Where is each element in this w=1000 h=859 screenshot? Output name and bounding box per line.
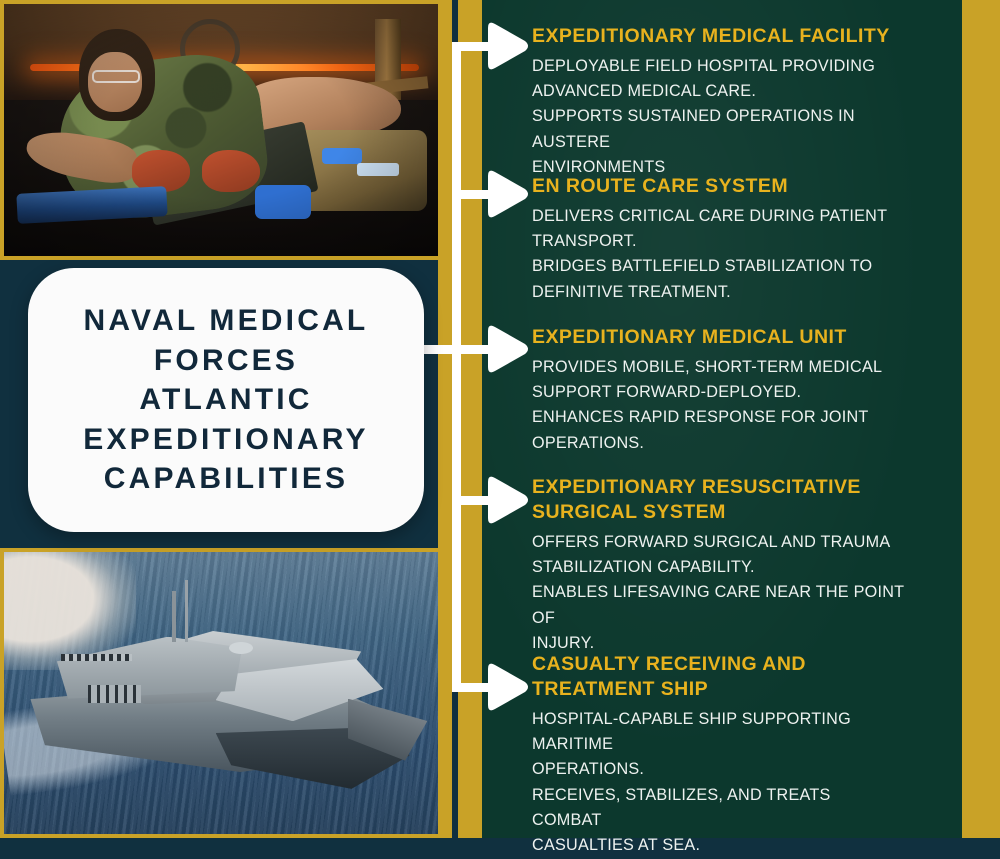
photo-vignette [4, 4, 445, 256]
connector-spine [452, 42, 461, 692]
capability-item-1: EXPEDITIONARY MEDICAL FACILITY DEPLOYABL… [532, 24, 936, 180]
top-photo-frame [0, 0, 449, 260]
connector-branch-3 [424, 345, 490, 354]
page-title: NAVAL MEDICAL FORCES ATLANTIC EXPEDITION… [61, 301, 391, 499]
photo-ship-mast [172, 591, 176, 642]
sailor-medical-training-photo [4, 4, 445, 256]
arrow-icon-5 [482, 659, 530, 715]
left-column: NAVAL MEDICAL FORCES ATLANTIC EXPEDITION… [0, 0, 466, 838]
capability-item-2: EN ROUTE CARE SYSTEM DELIVERS CRITICAL C… [532, 174, 936, 305]
capability-body: OFFERS FORWARD SURGICAL AND TRAUMA STABI… [532, 530, 918, 656]
capability-body: HOSPITAL-CAPABLE SHIP SUPPORTING MARITIM… [532, 707, 882, 859]
expeditionary-fast-transport-ship-photo [4, 552, 445, 834]
arrow-icon-1 [482, 18, 530, 74]
arrow-icon-4 [482, 472, 530, 528]
arrow-icon-2 [482, 166, 530, 222]
capability-body: PROVIDES MOBILE, SHORT-TERM MEDICAL SUPP… [532, 355, 936, 456]
capability-body: DEPLOYABLE FIELD HOSPITAL PROVIDING ADVA… [532, 54, 936, 180]
gold-divider-inner [438, 0, 452, 838]
capability-item-5: CASUALTY RECEIVING AND TREATMENT SHIP HO… [532, 652, 882, 859]
photo-ship-side-windows [88, 685, 141, 703]
capabilities-list: EXPEDITIONARY MEDICAL FACILITY DEPLOYABL… [532, 0, 942, 838]
photo-ship-antenna [185, 580, 188, 642]
capability-item-4: EXPEDITIONARY RESUSCITATIVE SURGICAL SYS… [532, 475, 918, 656]
capability-heading: EXPEDITIONARY RESUSCITATIVE SURGICAL SYS… [532, 475, 918, 525]
arrow-icon-3 [482, 321, 530, 377]
photo-ship-bridge-windows [61, 654, 132, 661]
capability-heading: EN ROUTE CARE SYSTEM [532, 174, 936, 199]
gold-edge-right [962, 0, 1000, 838]
title-card: NAVAL MEDICAL FORCES ATLANTIC EXPEDITION… [28, 268, 424, 532]
bottom-photo-frame [0, 548, 449, 838]
capability-heading: EXPEDITIONARY MEDICAL FACILITY [532, 24, 936, 49]
capability-heading: CASUALTY RECEIVING AND TREATMENT SHIP [532, 652, 882, 702]
capability-body: DELIVERS CRITICAL CARE DURING PATIENT TR… [532, 204, 936, 305]
capability-item-3: EXPEDITIONARY MEDICAL UNIT PROVIDES MOBI… [532, 325, 936, 456]
capability-heading: EXPEDITIONARY MEDICAL UNIT [532, 325, 936, 350]
infographic-poster: NAVAL MEDICAL FORCES ATLANTIC EXPEDITION… [0, 0, 1000, 838]
gold-divider-outer [458, 0, 482, 838]
